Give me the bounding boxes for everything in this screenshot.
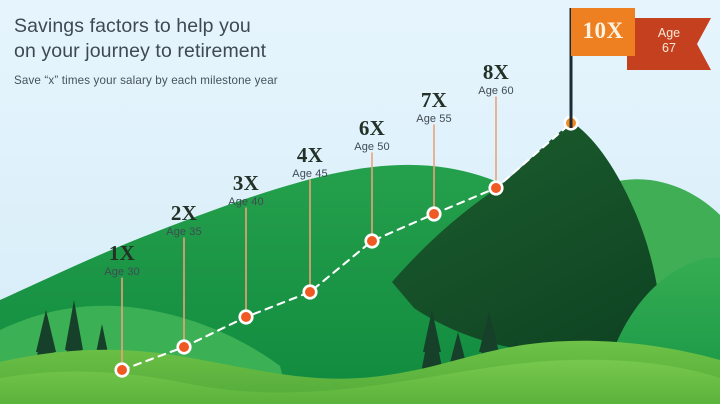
milestone-age: Age 55 xyxy=(416,112,451,126)
milestone-age: Age 40 xyxy=(228,195,263,209)
milestone-marker xyxy=(114,362,129,377)
mountain-scene xyxy=(0,0,720,404)
milestone-factor: 8X xyxy=(478,62,513,82)
milestone-age: Age 30 xyxy=(104,265,139,279)
milestone-age: Age 60 xyxy=(478,84,513,98)
milestone-label-2x: 2X Age 35 xyxy=(166,203,201,239)
infographic-canvas: Savings factors to help you on your jour… xyxy=(0,0,720,404)
milestone-age: Age 35 xyxy=(166,225,201,239)
milestone-label-6x: 6X Age 50 xyxy=(354,118,389,154)
milestone-label-3x: 3X Age 40 xyxy=(228,173,263,209)
flag-panel xyxy=(571,8,635,56)
milestone-label-1x: 1X Age 30 xyxy=(104,243,139,279)
milestone-factor: 4X xyxy=(292,145,327,165)
milestone-marker xyxy=(302,284,317,299)
milestone-label-8x: 8X Age 60 xyxy=(478,62,513,98)
milestone-factor: 3X xyxy=(228,173,263,193)
milestone-factor: 6X xyxy=(354,118,389,138)
milestone-marker xyxy=(426,206,441,221)
milestone-label-7x: 7X Age 55 xyxy=(416,90,451,126)
milestone-marker xyxy=(238,309,253,324)
milestone-factor: 7X xyxy=(416,90,451,110)
milestone-factor: 2X xyxy=(166,203,201,223)
milestone-age: Age 50 xyxy=(354,140,389,154)
milestone-marker xyxy=(176,339,191,354)
milestone-factor: 1X xyxy=(104,243,139,263)
milestone-age: Age 45 xyxy=(292,167,327,181)
milestone-marker xyxy=(364,233,379,248)
milestone-label-4x: 4X Age 45 xyxy=(292,145,327,181)
milestone-marker xyxy=(488,180,503,195)
